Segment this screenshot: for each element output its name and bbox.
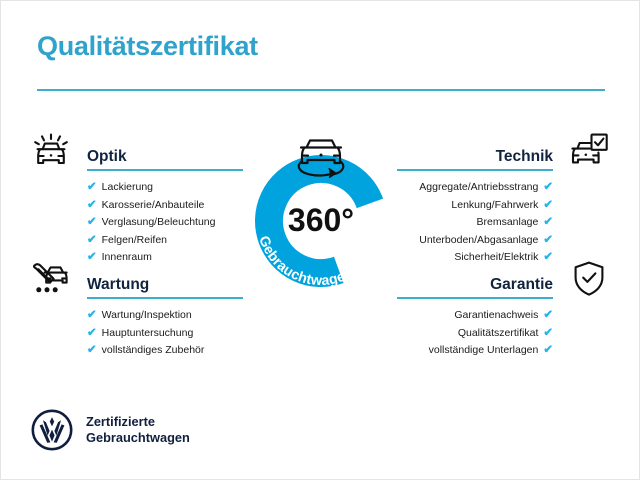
section-optik-title: Optik <box>87 147 243 169</box>
wrench-car-icon <box>29 259 73 299</box>
check-icon: ✔ <box>543 308 553 324</box>
list-item: ✔ Aggregate/Antriebsstrang <box>397 180 553 196</box>
list-item-label: Unterboden/Abgasanlage <box>419 233 538 249</box>
section-optik-head: Optik <box>73 147 243 171</box>
car-checkbox-icon <box>567 131 611 171</box>
list-item-label: Lenkung/Fahrwerk <box>451 198 538 214</box>
list-item-label: Felgen/Reifen <box>102 233 167 249</box>
list-item: ✔ Bremsanlage <box>397 215 553 231</box>
list-item-label: Qualitätszertifikat <box>458 326 539 342</box>
section-optik-list: ✔ Lackierung ✔ Karosserie/Anbauteile ✔ V… <box>29 180 243 266</box>
section-garantie-header: Garantie <box>397 257 611 299</box>
list-item-label: Garantienachweis <box>454 308 538 324</box>
list-item-label: Bremsanlage <box>476 215 538 231</box>
list-item: ✔ Lenkung/Fahrwerk <box>397 198 553 214</box>
footer-line-1: Zertifizierte <box>86 414 190 430</box>
list-item-label: Wartung/Inspektion <box>102 308 192 324</box>
check-icon: ✔ <box>87 343 97 359</box>
section-technik-underline <box>397 169 553 171</box>
list-item-label: Karosserie/Anbauteile <box>102 198 205 214</box>
list-item-label: Aggregate/Antriebsstrang <box>419 180 538 196</box>
list-item: ✔ Hauptuntersuchung <box>87 326 243 342</box>
section-optik-underline <box>87 169 243 171</box>
footer-vw-lockup: Zertifizierte Gebrauchtwagen <box>31 409 190 451</box>
list-item: ✔ Wartung/Inspektion <box>87 308 243 324</box>
section-technik-title: Technik <box>397 147 553 169</box>
section-garantie-list: ✔ Garantienachweis ✔ Qualitätszertifikat… <box>397 308 611 359</box>
section-optik: Optik ✔ Lackierung ✔ Karosserie/Anbautei… <box>29 129 243 268</box>
section-wartung-header: Wartung <box>29 257 243 299</box>
car-shine-icon <box>29 131 73 171</box>
list-item: ✔ vollständiges Zubehör <box>87 343 243 359</box>
section-garantie-head: Garantie <box>397 275 567 299</box>
check-icon: ✔ <box>543 198 553 214</box>
check-icon: ✔ <box>543 233 553 249</box>
section-optik-header: Optik <box>29 129 243 171</box>
section-wartung-list: ✔ Wartung/Inspektion ✔ Hauptuntersuchung… <box>29 308 243 359</box>
shield-check-icon <box>567 259 611 299</box>
title-divider <box>37 89 605 91</box>
list-item-label: Verglasung/Beleuchtung <box>102 215 216 231</box>
check-icon: ✔ <box>87 233 97 249</box>
check-icon: ✔ <box>87 198 97 214</box>
check-icon: ✔ <box>87 180 97 196</box>
footer-text: Zertifizierte Gebrauchtwagen <box>86 414 190 446</box>
title-block: Qualitätszertifikat <box>37 29 605 63</box>
page-title: Qualitätszertifikat <box>37 29 605 63</box>
section-garantie: Garantie ✔ Garantienachweis ✔ Qualitätsz… <box>397 257 611 361</box>
section-wartung-underline <box>87 297 243 299</box>
check-icon: ✔ <box>543 343 553 359</box>
list-item: ✔ Karosserie/Anbauteile <box>87 198 243 214</box>
list-item: ✔ Qualitätszertifikat <box>397 326 553 342</box>
check-icon: ✔ <box>543 180 553 196</box>
list-item: ✔ Verglasung/Beleuchtung <box>87 215 243 231</box>
section-wartung-head: Wartung <box>73 275 243 299</box>
check-icon: ✔ <box>87 215 97 231</box>
list-item-label: vollständiges Zubehör <box>102 343 205 359</box>
list-item: ✔ Unterboden/Abgasanlage <box>397 233 553 249</box>
section-garantie-title: Garantie <box>397 275 553 297</box>
section-technik: Technik ✔ Aggregate/Antriebsstr <box>397 129 611 268</box>
section-wartung-title: Wartung <box>87 275 243 297</box>
badge-center-label: 360° <box>288 202 354 238</box>
check-icon: ✔ <box>87 326 97 342</box>
vw-logo <box>31 409 73 451</box>
list-item-label: Lackierung <box>102 180 153 196</box>
check-icon: ✔ <box>87 308 97 324</box>
list-item: ✔ Garantienachweis <box>397 308 553 324</box>
list-item-label: vollständige Unterlagen <box>429 343 539 359</box>
check-icon: ✔ <box>543 215 553 231</box>
section-technik-head: Technik <box>397 147 567 171</box>
section-technik-header: Technik <box>397 129 611 171</box>
section-technik-list: ✔ Aggregate/Antriebsstrang ✔ Lenkung/Fah… <box>397 180 611 266</box>
list-item-label: Hauptuntersuchung <box>102 326 194 342</box>
certificate-page: Qualitätszertifikat <box>0 0 640 480</box>
check-icon: ✔ <box>543 326 553 342</box>
list-item: ✔ Lackierung <box>87 180 243 196</box>
footer-line-2: Gebrauchtwagen <box>86 430 190 446</box>
section-garantie-underline <box>397 297 553 299</box>
list-item: ✔ Felgen/Reifen <box>87 233 243 249</box>
list-item: ✔ vollständige Unterlagen <box>397 343 553 359</box>
badge-360-gebrauchtwagen-check: 360° Gebrauchtwagen-Check <box>238 121 404 301</box>
section-wartung: Wartung ✔ Wartung/Inspektion ✔ Hauptunte… <box>29 257 243 361</box>
